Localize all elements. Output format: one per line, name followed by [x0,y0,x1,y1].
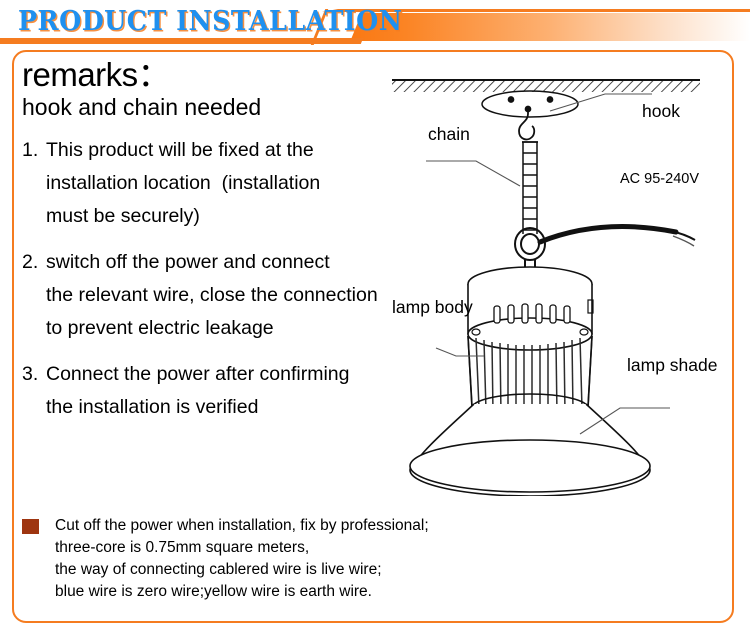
diagram-label-lamp-shade: lamp shade [627,355,717,376]
instruction-step: 2. switch off the power and connect the … [22,246,442,345]
eyelet-ring-icon [515,228,545,269]
note-text: Cut off the power when installation, fix… [55,515,429,603]
warning-note: Cut off the power when installation, fix… [22,515,492,603]
remarks-heading: remarks： [22,58,442,93]
power-cable-icon [540,227,695,246]
instruction-step: 1. This product will be fixed at the ins… [22,134,442,233]
lamp-shade-icon [410,404,650,496]
diagram-label-voltage: AC 95-240V [620,171,699,187]
note-line: the way of connecting cablered wire is l… [55,559,429,581]
ceiling-icon [392,80,700,92]
chain-icon [523,142,537,234]
step-number: 3. [22,358,46,424]
step-number: 1. [22,134,46,233]
instruction-step: 3. Connect the power after confirming th… [22,358,442,424]
header-rule-tail [331,38,363,44]
header-rule [0,38,340,44]
note-line: three-core is 0.75mm square meters, [55,537,429,559]
note-bullet-square-icon [22,519,39,534]
page-header: PRODUCT INSTALLATION [0,0,750,50]
diagram-label-hook: hook [642,101,680,122]
installation-diagram [380,56,742,496]
page-title: PRODUCT INSTALLATION [18,6,402,37]
lamp-body-icon [468,267,592,350]
diagram-label-lamp-body: lamp body [392,297,473,318]
diagram-label-chain: chain [428,124,470,145]
mounting-plate-icon [482,91,578,117]
note-line: blue wire is zero wire;yellow wire is ea… [55,581,429,603]
remarks-subheading: hook and chain needed [22,95,442,120]
instructions-column: remarks： hook and chain needed 1. This p… [22,58,442,437]
note-line: Cut off the power when installation, fix… [55,515,429,537]
step-number: 2. [22,246,46,345]
hook-icon [519,106,538,142]
